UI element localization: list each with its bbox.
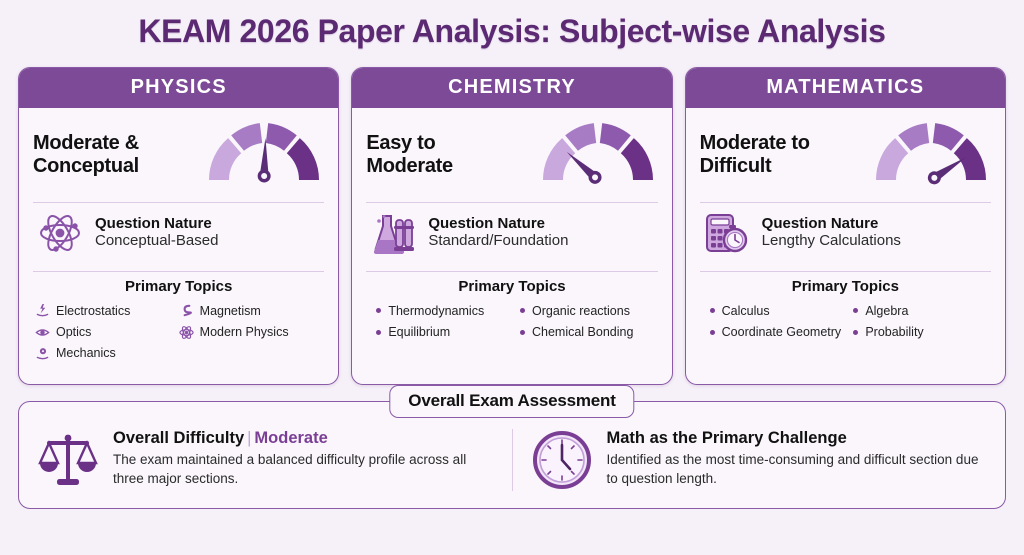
calculator-stopwatch-icon (704, 212, 750, 254)
verdict-text-mathematics: Moderate to Difficult (700, 132, 850, 179)
verdict-row-mathematics: Moderate to Difficult (700, 116, 991, 194)
math-challenge-heading: Math as the Primary Challenge (607, 429, 988, 449)
card-body-physics: Moderate & Conceptual (19, 108, 338, 384)
overall-assessment-badge: Overall Exam Assessment (389, 385, 634, 418)
topic-label: Optics (56, 324, 91, 340)
math-challenge-text: Identified as the most time-consuming an… (607, 451, 988, 488)
overall-difficulty-label: Overall Difficulty (113, 429, 244, 447)
question-nature-chemistry: Question Nature Standard/Foundation (366, 203, 657, 263)
topic-label: Algebra (865, 303, 908, 319)
bullet-dot-icon (376, 308, 381, 313)
topic-label: Probability (865, 324, 923, 340)
topics-grid-chemistry: Thermodynamics Organic reactions Equilib… (366, 300, 657, 343)
gauge-needle-physics (258, 138, 273, 183)
topics-title-physics: Primary Topics (33, 278, 324, 295)
topic-item: Optics (35, 321, 179, 342)
topic-item: Equilibrium (368, 321, 512, 342)
topics-title-chemistry: Primary Topics (366, 278, 657, 295)
topic-item: Algebra (845, 300, 989, 321)
topic-label: Organic reactions (532, 303, 630, 319)
topic-item: Magnetism (179, 300, 323, 321)
question-nature-physics: Question Nature Conceptual-Based (33, 203, 324, 263)
card-body-mathematics: Moderate to Difficult (686, 108, 1005, 384)
bullet-dot-icon (710, 330, 715, 335)
atom-small-icon (179, 325, 194, 340)
gauge-icon (538, 122, 658, 188)
electrostatics-icon (35, 303, 50, 318)
topic-item: Coordinate Geometry (702, 321, 846, 342)
topic-label: Electrostatics (56, 303, 130, 319)
atom-icon (37, 212, 83, 254)
topic-item: Organic reactions (512, 300, 656, 321)
mechanics-icon (35, 346, 50, 361)
topic-label: Mechanics (56, 345, 116, 361)
topics-title-mathematics: Primary Topics (700, 278, 991, 295)
question-nature-value: Conceptual-Based (95, 232, 218, 251)
topic-item: Mechanics (35, 343, 179, 364)
topic-label: Magnetism (200, 303, 261, 319)
subject-card-chemistry: CHEMISTRY Easy to Moderate (351, 67, 672, 385)
verdict-text-physics: Moderate & Conceptual (33, 132, 183, 179)
overall-difficulty-text: The exam maintained a balanced difficult… (113, 451, 494, 488)
separator: | (244, 429, 254, 447)
bullet-dot-icon (710, 308, 715, 313)
question-nature-value: Standard/Foundation (428, 232, 568, 251)
verdict-text-chemistry: Easy to Moderate (366, 132, 516, 179)
overall-item-math-challenge: Math as the Primary Challenge Identified… (512, 429, 1006, 491)
page-title: KEAM 2026 Paper Analysis: Subject-wise A… (0, 0, 1024, 49)
topic-label: Equilibrium (388, 324, 450, 340)
bullet-dot-icon (376, 330, 381, 335)
topics-grid-physics: Electrostatics Magnetism Optics (33, 300, 324, 364)
card-header-mathematics: MATHEMATICS (686, 68, 1005, 108)
question-nature-value: Lengthy Calculations (762, 232, 901, 251)
infographic-page: KEAM 2026 Paper Analysis: Subject-wise A… (0, 0, 1024, 555)
topic-label: Coordinate Geometry (722, 324, 842, 340)
overall-item-difficulty: Overall Difficulty|Moderate The exam mai… (19, 429, 512, 491)
divider (33, 271, 324, 272)
card-header-physics: PHYSICS (19, 68, 338, 108)
gauge-icon (871, 122, 991, 188)
bullet-dot-icon (520, 308, 525, 313)
gauge-icon (204, 122, 324, 188)
topic-label: Thermodynamics (388, 303, 484, 319)
overall-difficulty-heading: Overall Difficulty|Moderate (113, 429, 494, 449)
subject-cards-row: PHYSICS Moderate & Conceptual (0, 67, 1024, 385)
question-nature-mathematics: Question Nature Lengthy Calculations (700, 203, 991, 263)
verdict-row-physics: Moderate & Conceptual (33, 116, 324, 194)
topic-item: Electrostatics (35, 300, 179, 321)
topic-item: Thermodynamics (368, 300, 512, 321)
topic-label: Chemical Bonding (532, 324, 633, 340)
overall-assessment-panel: Overall Exam Assessment Overall Difficul… (18, 401, 1006, 509)
balance-scale-icon (37, 429, 99, 491)
subject-card-mathematics: MATHEMATICS Moderate to Difficult (685, 67, 1006, 385)
topic-label: Modern Physics (200, 324, 289, 340)
bullet-dot-icon (853, 330, 858, 335)
divider (700, 271, 991, 272)
question-nature-label: Question Nature (95, 215, 218, 232)
question-nature-label: Question Nature (428, 215, 568, 232)
verdict-row-chemistry: Easy to Moderate (366, 116, 657, 194)
card-header-chemistry: CHEMISTRY (352, 68, 671, 108)
card-body-chemistry: Easy to Moderate (352, 108, 671, 384)
topic-item: Chemical Bonding (512, 321, 656, 342)
topic-item: Calculus (702, 300, 846, 321)
question-nature-label: Question Nature (762, 215, 901, 232)
bullet-dot-icon (853, 308, 858, 313)
divider (366, 271, 657, 272)
subject-card-physics: PHYSICS Moderate & Conceptual (18, 67, 339, 385)
clock-icon (531, 429, 593, 491)
topic-label: Calculus (722, 303, 770, 319)
overall-difficulty-value: Moderate (254, 429, 327, 447)
topic-item: Modern Physics (179, 321, 323, 342)
eye-icon (35, 325, 50, 340)
bullet-dot-icon (520, 330, 525, 335)
magnet-icon (179, 303, 194, 318)
topic-item: Probability (845, 321, 989, 342)
flask-icon (370, 212, 416, 254)
topics-grid-mathematics: Calculus Algebra Coordinate Geometry Pro… (700, 300, 991, 343)
